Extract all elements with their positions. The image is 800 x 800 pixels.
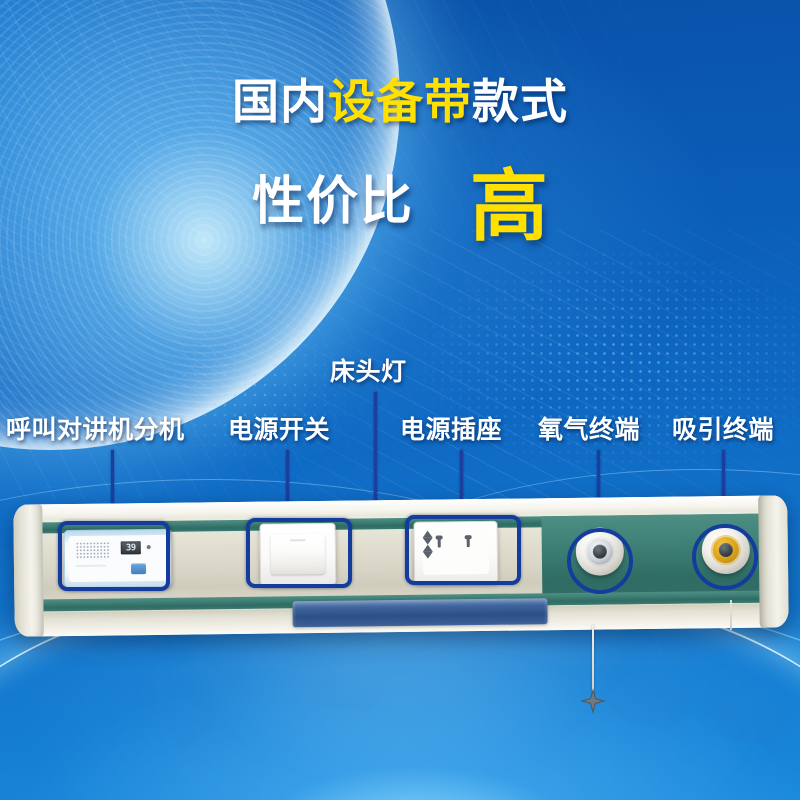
callout-oxygen-label: 氧气终端 — [538, 418, 640, 443]
pull-cord-secondary[interactable] — [730, 600, 732, 630]
highlight-power-switch — [246, 518, 352, 588]
highlight-oxygen — [567, 528, 633, 594]
callout-power-switch-label: 电源开关 — [228, 418, 330, 443]
highlight-suction — [692, 524, 758, 590]
panel-end-cap-left — [13, 503, 44, 636]
callout-suction-label: 吸引终端 — [672, 418, 774, 443]
pull-cord[interactable] — [592, 625, 594, 697]
callout-layer: 呼叫对讲机分机 电源开关 床头灯 电源插座 氧气终端 吸引终端 — [0, 0, 800, 800]
callout-intercom-label: 呼叫对讲机分机 — [6, 418, 185, 443]
cord-hook-icon — [580, 688, 606, 714]
promo-banner: 国内设备带款式 性价比 高 呼叫对讲机分机 电源开关 床头灯 电源插座 氧气终端… — [0, 0, 800, 800]
bed-lamp-diffuser — [292, 598, 547, 627]
highlight-power-socket — [405, 515, 521, 585]
panel-end-cap-right — [758, 495, 789, 628]
callout-power-socket-label: 电源插座 — [400, 418, 502, 443]
highlight-intercom — [58, 521, 170, 591]
callout-bed-lamp-label: 床头灯 — [330, 360, 407, 385]
